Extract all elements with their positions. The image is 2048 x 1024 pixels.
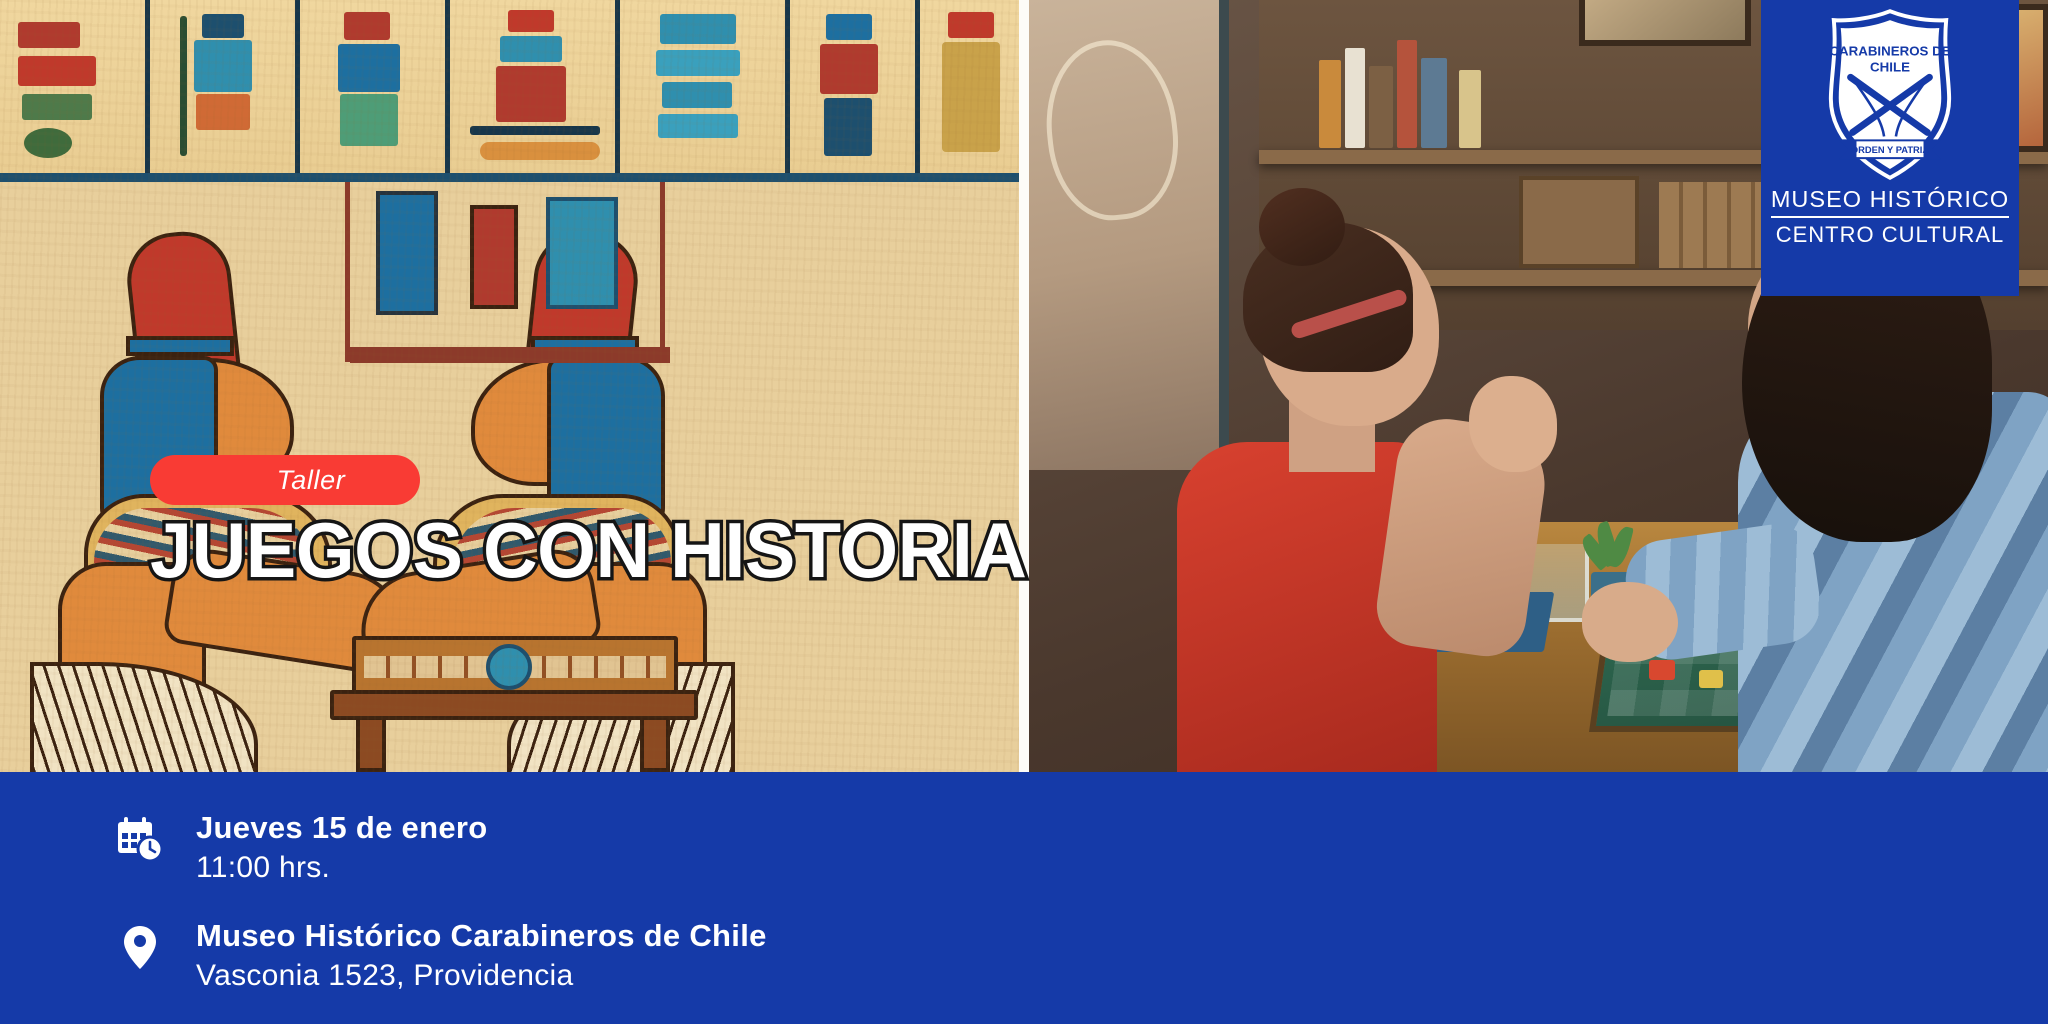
- museum-logo-panel: CARABINEROS DE CHILE ORDEN Y PATRIA MUSE…: [1761, 0, 2019, 296]
- svg-text:ORDEN Y PATRIA: ORDEN Y PATRIA: [1851, 145, 1930, 155]
- event-address: Vasconia 1523, Providencia: [196, 958, 767, 995]
- svg-text:CARABINEROS DE: CARABINEROS DE: [1829, 44, 1950, 59]
- event-poster: CARABINEROS DE CHILE ORDEN Y PATRIA MUSE…: [0, 0, 2048, 1024]
- hieroglyph-register: [0, 0, 1025, 182]
- event-date-row: Jueves 15 de enero 11:00 hrs.: [108, 810, 487, 886]
- museum-logo-text: MUSEO HISTÓRICO CENTRO CULTURAL: [1761, 186, 2019, 247]
- workshop-badge-label: Taller: [225, 465, 346, 496]
- egyptian-papyrus-illustration: [0, 0, 1025, 772]
- event-time: 11:00 hrs.: [196, 850, 487, 887]
- panel-divider: [1019, 0, 1029, 772]
- calendar-clock-icon: [108, 810, 172, 864]
- carabineros-shield-emblem: CARABINEROS DE CHILE ORDEN Y PATRIA: [1821, 8, 1959, 184]
- senet-board: [352, 636, 678, 698]
- event-date: Jueves 15 de enero: [196, 810, 487, 847]
- event-place-row: Museo Histórico Carabineros de Chile Vas…: [108, 918, 767, 994]
- location-pin-icon: [108, 918, 172, 972]
- page-title: JUEGOS CON HISTORIA: [150, 510, 1026, 592]
- workshop-badge: Taller: [150, 455, 420, 505]
- event-info-bar: Jueves 15 de enero 11:00 hrs. Museo Hist…: [0, 772, 2048, 1024]
- scene-inset-panel: [345, 182, 665, 362]
- game-disc: [486, 644, 532, 690]
- museum-name-line2: CENTRO CULTURAL: [1761, 222, 2019, 247]
- image-band: CARABINEROS DE CHILE ORDEN Y PATRIA MUSE…: [0, 0, 2048, 772]
- person-left-playing: [1139, 152, 1559, 772]
- pharaoh-right: [365, 232, 725, 772]
- museum-name-line1: MUSEO HISTÓRICO: [1771, 186, 2009, 218]
- event-venue: Museo Histórico Carabineros de Chile: [196, 918, 767, 955]
- game-table: [330, 690, 698, 720]
- svg-text:CHILE: CHILE: [1870, 59, 1910, 74]
